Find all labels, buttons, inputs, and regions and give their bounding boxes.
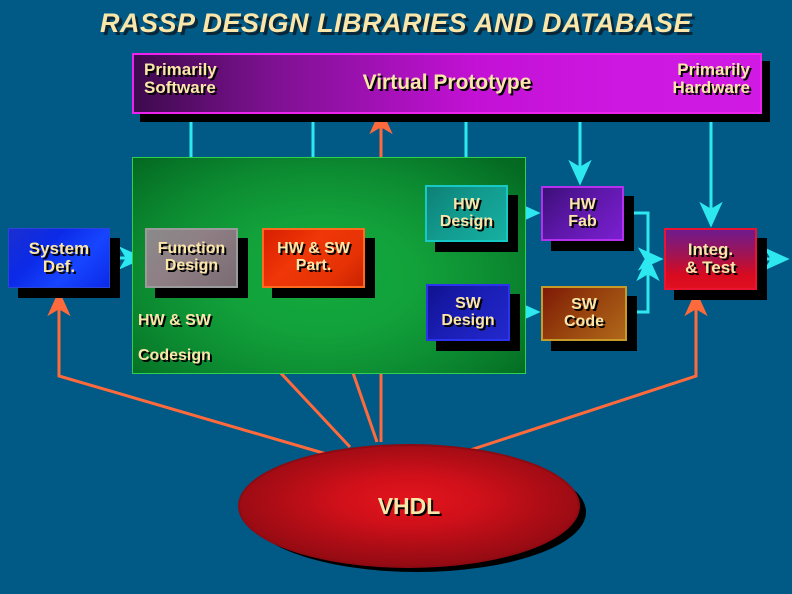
primarily-software-label: Primarily Software — [144, 61, 217, 98]
node-sw-code[interactable]: SW Code — [541, 286, 627, 341]
hw-sw-codesign-label: HW & SW Codesign — [138, 312, 298, 365]
node-sw-design[interactable]: SW Design — [426, 284, 510, 341]
virtual-prototype-banner[interactable]: Primarily Software Virtual Prototype Pri… — [132, 53, 762, 114]
vhdl-label: VHDL — [378, 493, 441, 520]
node-integration-and-test[interactable]: Integ. & Test — [664, 228, 757, 290]
node-function-design[interactable]: Function Design — [145, 228, 238, 288]
diagram-canvas: RASSP DESIGN LIBRARIES AND DATABASE — [0, 0, 792, 594]
node-vhdl[interactable]: VHDL — [238, 444, 580, 568]
primarily-hardware-label: Primarily Hardware — [673, 61, 750, 98]
node-system-def[interactable]: System Def. — [8, 228, 110, 288]
virtual-prototype-label: Virtual Prototype — [363, 72, 532, 94]
node-hw-design[interactable]: HW Design — [425, 185, 508, 242]
node-hw-fab[interactable]: HW Fab — [541, 186, 624, 241]
node-hw-sw-partitioning[interactable]: HW & SW Part. — [262, 228, 365, 288]
